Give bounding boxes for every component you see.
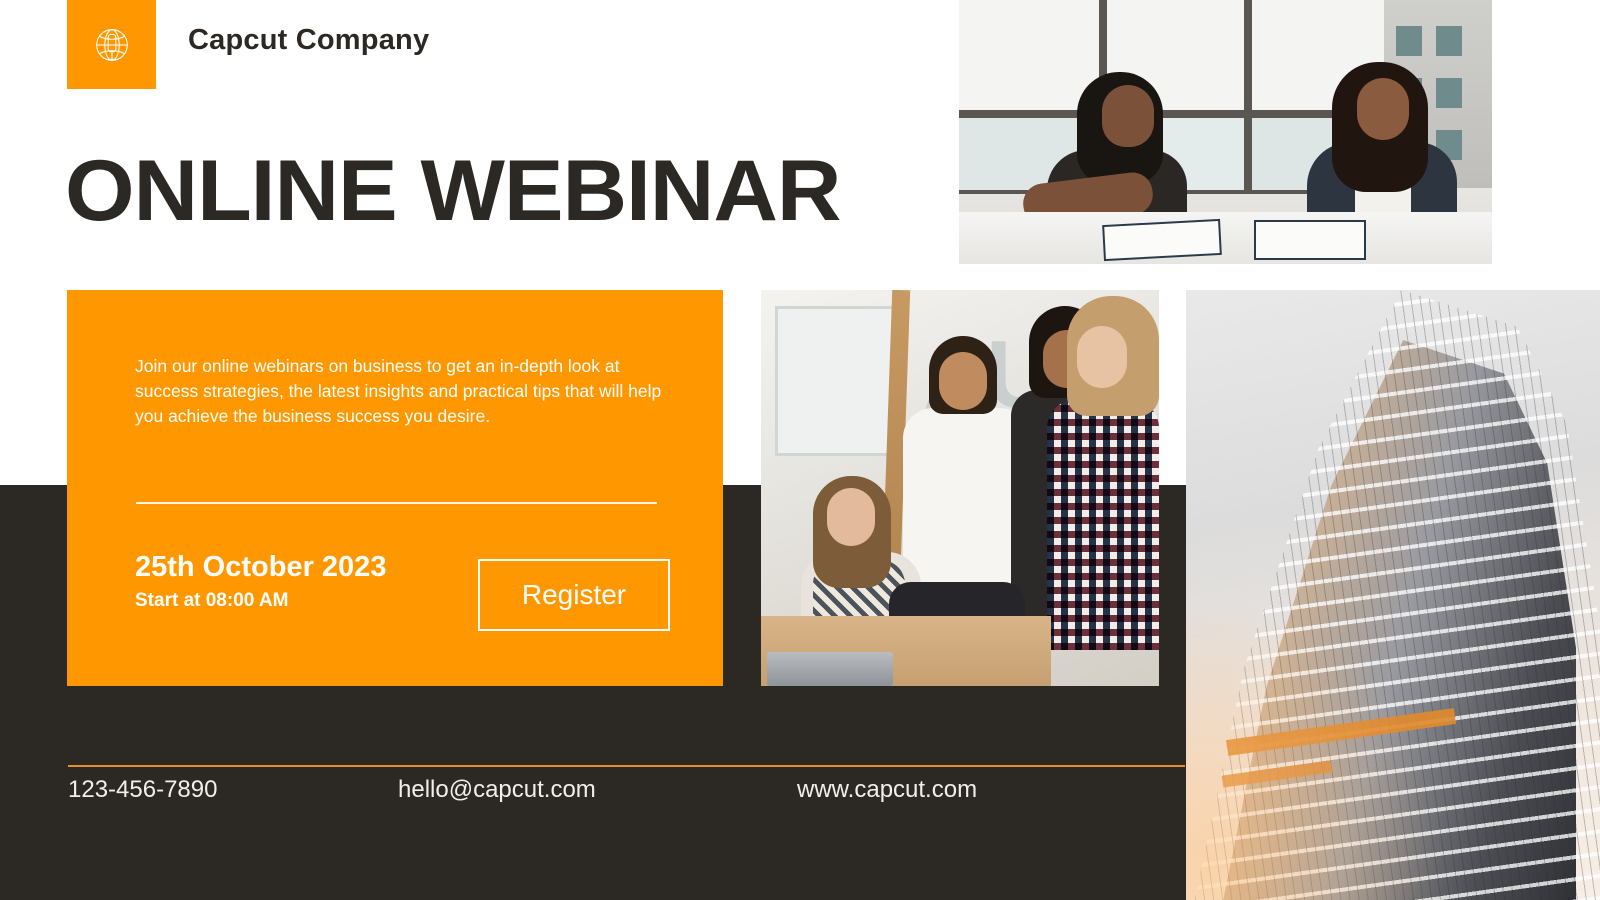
building-window: [1436, 26, 1462, 56]
office-team-photo: A U: [761, 290, 1159, 686]
notebook: [1102, 219, 1222, 261]
webinar-start-time: Start at 08:00 AM: [135, 590, 288, 612]
footer-divider: [68, 765, 1185, 767]
brand-logo-box: [67, 0, 156, 89]
woman-seated-face: [827, 488, 875, 546]
sun-glow: [1186, 600, 1446, 900]
building-window: [1396, 26, 1422, 56]
card-divider: [136, 502, 657, 504]
globe-icon: [89, 22, 135, 68]
two-women-meeting-photo: [959, 0, 1492, 264]
brand-name: Capcut Company: [188, 24, 429, 57]
woman-left-face: [1102, 85, 1154, 147]
contact-website[interactable]: www.capcut.com: [797, 776, 977, 804]
webinar-info-card: Join our online webinars on business to …: [67, 290, 723, 686]
contact-phone[interactable]: 123-456-7890: [68, 776, 217, 804]
woman-right-plaid-shirt: [1047, 400, 1159, 650]
register-button[interactable]: Register: [478, 559, 670, 631]
webinar-date: 25th October 2023: [135, 551, 386, 584]
skyscraper-photo: [1186, 290, 1600, 900]
conference-table: [959, 212, 1492, 264]
man-center-face: [939, 352, 987, 410]
woman-right-face: [1357, 78, 1409, 140]
page-title: ONLINE WEBINAR: [65, 148, 840, 234]
footer-contacts: 123-456-7890 hello@capcut.com www.capcut…: [0, 776, 1213, 816]
office-window: [775, 306, 895, 456]
building-window: [1436, 78, 1462, 108]
laptop: [767, 652, 893, 686]
poster-canvas: Capcut Company ONLINE WEBINAR Join our o…: [0, 0, 1600, 900]
contact-email[interactable]: hello@capcut.com: [398, 776, 596, 804]
woman-right-face: [1077, 326, 1127, 388]
webinar-description: Join our online webinars on business to …: [135, 354, 663, 429]
notebook: [1254, 220, 1366, 260]
